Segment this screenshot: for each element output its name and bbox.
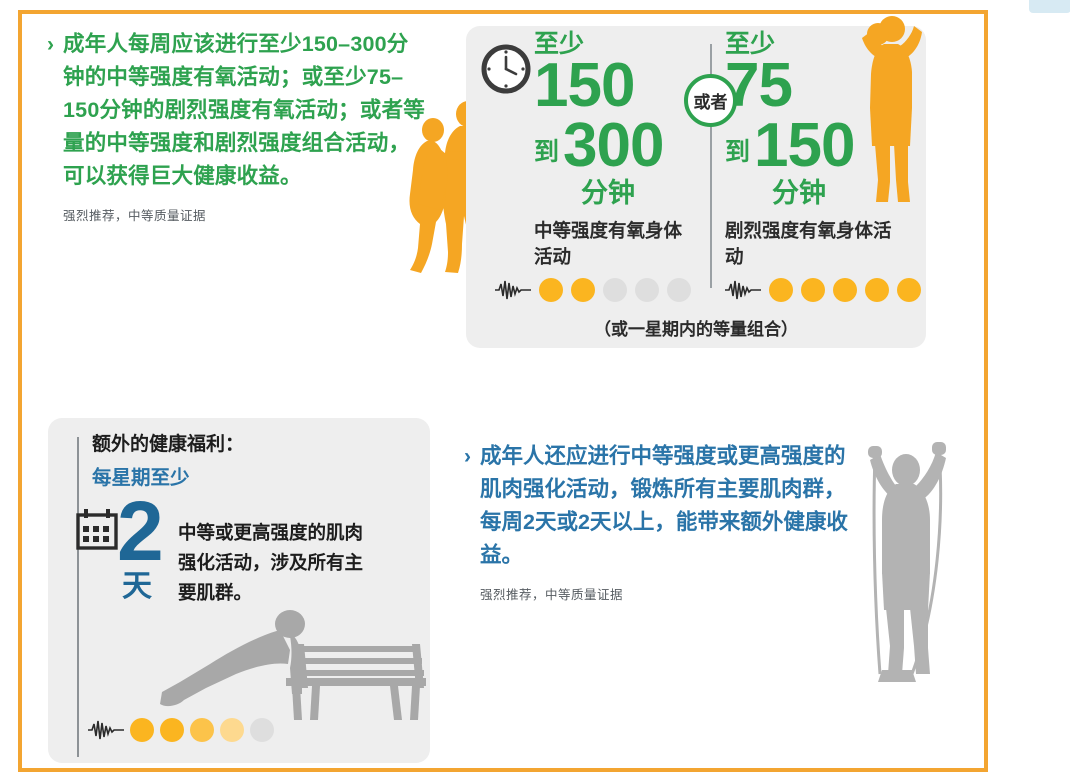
muscle-recommendation-block: › 成年人还应进行中等强度或更高强度的肌肉强化活动，锻炼所有主要肌肉群，每周2天… xyxy=(462,440,852,603)
to-label-right: 到 xyxy=(725,130,750,174)
vigorous-aerobic-label: 剧烈强度有氧身体活动 xyxy=(725,218,900,270)
waveform-icon xyxy=(88,719,124,741)
minutes-max-left: 300 xyxy=(563,118,663,174)
muscle-card-body-text: 中等或更高强度的肌肉强化活动，涉及所有主要肌群。 xyxy=(178,518,363,608)
waveform-icon xyxy=(495,279,531,301)
aerobic-recommendation-text: 成年人每周应该进行至少150–300分钟的中等强度有氧活动；或至少75–150分… xyxy=(63,28,425,193)
intensity-dots-vigorous xyxy=(725,278,921,302)
resistance-band-silhouette xyxy=(866,434,966,684)
or-badge: 或者 xyxy=(684,74,737,127)
to-row-left: 到 300 xyxy=(534,118,694,174)
basketball-player-silhouette xyxy=(848,12,940,208)
infographic-root: › 成年人每周应该进行至少150–300分钟的中等强度有氧活动；或至少75–15… xyxy=(0,0,1070,782)
minutes-unit-left: 分钟 xyxy=(534,176,682,210)
minutes-min-left: 150 xyxy=(534,58,694,114)
intensity-dots-moderate xyxy=(495,278,691,302)
minutes-max-right: 150 xyxy=(754,118,854,174)
top-right-blue-chip xyxy=(1029,0,1070,13)
clock-icon xyxy=(481,44,531,94)
bench-pushup-silhouette xyxy=(140,602,430,724)
calendar-icon xyxy=(74,508,120,552)
chevron-right-icon: › xyxy=(464,440,480,473)
bullet-row: › 成年人每周应该进行至少150–300分钟的中等强度有氧活动；或至少75–15… xyxy=(45,28,425,193)
moderate-aerobic-label: 中等强度有氧身体活动 xyxy=(534,218,694,270)
bullet-row: › 成年人还应进行中等强度或更高强度的肌肉强化活动，锻炼所有主要肌肉群，每周2天… xyxy=(462,440,852,572)
chevron-right-icon: › xyxy=(47,28,63,61)
extra-benefit-title: 额外的健康福利： xyxy=(92,432,244,458)
aerobic-recommendation-block: › 成年人每周应该进行至少150–300分钟的中等强度有氧活动；或至少75–15… xyxy=(45,28,425,224)
muscle-citation: 强烈推荐，中等质量证据 xyxy=(480,584,852,603)
intensity-dots-muscle xyxy=(88,718,274,742)
muscle-recommendation-text: 成年人还应进行中等强度或更高强度的肌肉强化活动，锻炼所有主要肌肉群，每周2天或2… xyxy=(480,440,852,572)
days-unit-label: 天 xyxy=(122,570,152,604)
moderate-aerobic-column: 至少 150 到 300 分钟 xyxy=(534,30,694,210)
card-left-rule xyxy=(77,437,79,757)
aerobic-citation: 强烈推荐，中等质量证据 xyxy=(63,205,425,224)
equivalent-combination-note: （或一星期内的等量组合） xyxy=(466,315,926,340)
to-label-left: 到 xyxy=(534,130,559,174)
days-big-number: 2 xyxy=(117,489,162,573)
waveform-icon xyxy=(725,279,761,301)
